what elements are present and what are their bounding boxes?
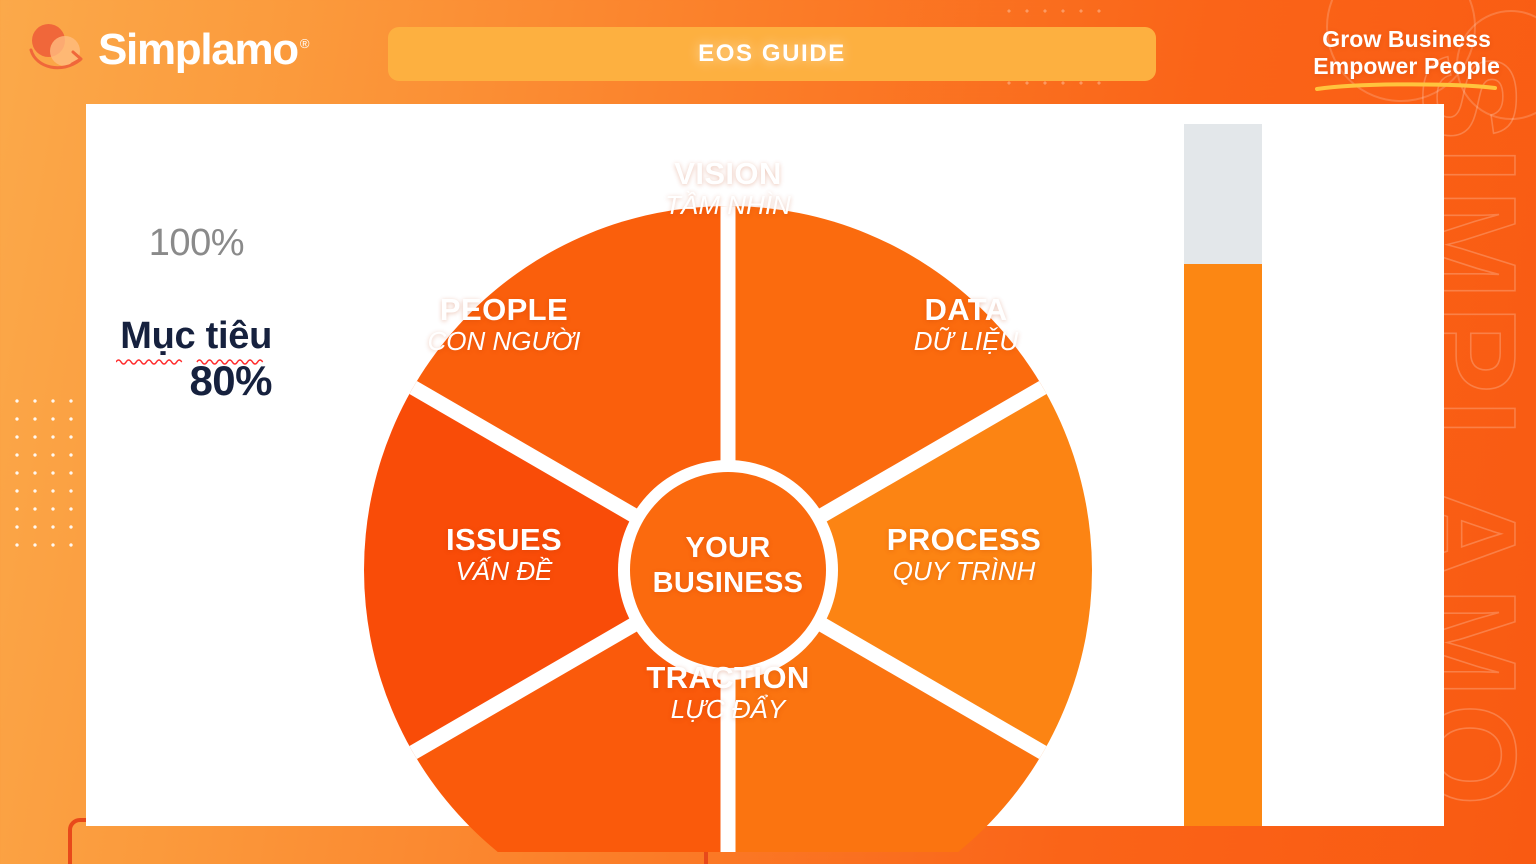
dot-grid-icon-left [8,392,86,556]
goal-value: 80% [120,359,272,403]
spellcheck-squiggle-icon [116,357,268,365]
eos-guide-banner[interactable]: EOS GUIDE [388,27,1156,81]
page-header: Simplamo® EOS GUIDE Grow Business Empowe… [0,0,1536,104]
goal-label: Mục tiêu [120,316,272,359]
swoosh-icon [28,46,88,76]
content-card: VISION TẦM NHÌN DATA DỮ LIỆU PROCESS QUY… [86,104,1444,826]
simplamo-logo[interactable]: Simplamo® [28,22,308,78]
tagline: Grow Business Empower People [1313,26,1500,92]
progress-gauge[interactable] [1184,124,1262,826]
logo-wordmark: Simplamo® [98,28,308,72]
tagline-line-2: Empower People [1313,53,1500,80]
gauge-fill [1184,264,1262,826]
eos-wheel: VISION TẦM NHÌN DATA DỮ LIỆU PROCESS QUY… [278,112,1178,852]
logo-name: Simplamo [98,25,298,74]
eos-guide-label: EOS GUIDE [698,40,846,68]
goal-annotation: Mục tiêu 80% [120,316,272,403]
gauge-top-label: 100% [149,222,244,265]
trademark-symbol: ® [300,36,308,51]
eos-wheel-svg [278,112,1178,852]
tagline-underline-icon [1313,82,1499,92]
simplamo-bubbles-icon [28,22,88,78]
tagline-line-1: Grow Business [1313,26,1500,53]
wheel-hub-label: YOUR BUSINESS [608,531,848,602]
